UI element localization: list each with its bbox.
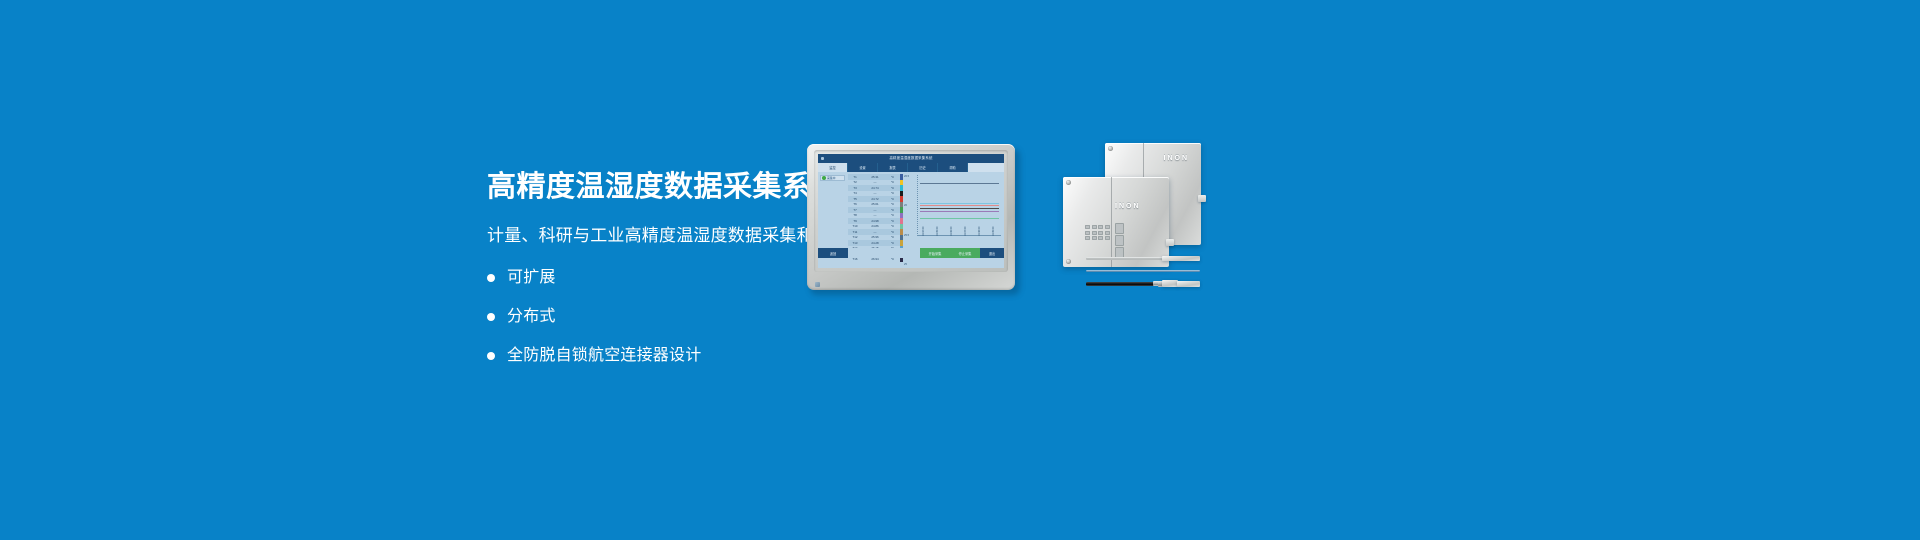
module-side-tab bbox=[1166, 239, 1174, 246]
chart-series-line bbox=[920, 208, 1000, 209]
bullet-dot-icon bbox=[487, 274, 495, 282]
probe-connector-shell bbox=[1177, 281, 1200, 287]
cell-value: --- bbox=[862, 208, 888, 212]
cell-value: --- bbox=[862, 191, 888, 195]
table-row[interactable]: T625.61°C bbox=[848, 202, 900, 208]
probe-shaft bbox=[1086, 257, 1164, 260]
probe-handle bbox=[1162, 256, 1200, 261]
cell-unit: °C bbox=[888, 213, 897, 217]
module-port bbox=[1092, 236, 1097, 240]
panel-pc-bezel: 高精度温湿度数据采集系统 监控 设置 报表 历史 帮助 采集中 bbox=[807, 144, 1015, 290]
module-screw-icon bbox=[1066, 180, 1071, 185]
y-axis-tick-label: 25 bbox=[904, 263, 907, 266]
cell-value: 24.86 bbox=[862, 224, 888, 228]
x-axis-tick-label: 16:08:00 bbox=[978, 227, 981, 236]
module-port bbox=[1085, 236, 1090, 240]
cell-id: T8 bbox=[848, 213, 862, 217]
module-port bbox=[1098, 236, 1103, 240]
module-screw-icon bbox=[1108, 146, 1113, 151]
chart-series-line bbox=[920, 183, 1000, 184]
y-axis-tick-label: 25.5 bbox=[904, 234, 909, 237]
back-button[interactable]: 返回 bbox=[818, 248, 848, 258]
chart-series-line bbox=[920, 205, 1000, 206]
cell-value: 25.96 bbox=[862, 235, 888, 239]
table-row[interactable]: T125.31°C bbox=[848, 174, 900, 180]
toolbar-spacer bbox=[848, 248, 920, 258]
x-axis-tick-label: 16:06:00 bbox=[950, 227, 953, 236]
cell-id: T3 bbox=[848, 186, 862, 190]
table-row[interactable]: T324.74°C bbox=[848, 185, 900, 191]
feature-item-distributed: 分布式 bbox=[487, 307, 967, 327]
module-brand-label: INON bbox=[1164, 155, 1190, 162]
x-axis-tick-label: 16:07:00 bbox=[964, 227, 967, 236]
app-bottom-toolbar: 返回 开始采集 停止采集 退出 bbox=[818, 248, 1004, 258]
tab-history[interactable]: 历史 bbox=[908, 163, 938, 172]
table-row[interactable]: T11---°C bbox=[848, 229, 900, 235]
chart-y-axis: 26.52625.525 bbox=[904, 174, 916, 246]
cell-id: T9 bbox=[848, 219, 862, 223]
probe-connector-body bbox=[1162, 280, 1178, 287]
cell-id: T13 bbox=[848, 241, 862, 245]
cell-value: 24.98 bbox=[862, 219, 888, 223]
cell-unit: °C bbox=[888, 235, 897, 239]
cell-id: T11 bbox=[848, 230, 862, 234]
table-row[interactable]: T1324.28°C bbox=[848, 240, 900, 246]
cell-unit: °C bbox=[888, 208, 897, 212]
feature-label: 分布式 bbox=[507, 309, 556, 325]
module-connector-block bbox=[1115, 235, 1124, 246]
cell-unit: °C bbox=[888, 219, 897, 223]
feature-item-connector: 全防脱自锁航空连接器设计 bbox=[487, 346, 967, 366]
cell-id: T1 bbox=[848, 175, 862, 179]
chart-x-axis: 16:04:0016:05:0016:06:0016:07:0016:08:00… bbox=[917, 236, 1001, 246]
cell-value: --- bbox=[862, 230, 888, 234]
table-row[interactable]: T4---°C bbox=[848, 191, 900, 197]
exit-button[interactable]: 退出 bbox=[980, 248, 1004, 258]
acquisition-status-button[interactable]: 采集中 bbox=[820, 175, 845, 181]
module-seam-line bbox=[1111, 177, 1112, 267]
table-row[interactable]: T1225.96°C bbox=[848, 235, 900, 241]
chart-series-line bbox=[920, 211, 1000, 212]
y-axis-tick-label: 26 bbox=[904, 204, 907, 207]
cell-unit: °C bbox=[888, 197, 897, 201]
cell-unit: °C bbox=[888, 224, 897, 228]
status-led-icon bbox=[822, 176, 826, 180]
module-screw-icon bbox=[1066, 259, 1071, 264]
x-axis-tick-label: 16:05:00 bbox=[936, 227, 939, 236]
cell-value: 24.72 bbox=[862, 197, 888, 201]
app-window-title: 高精度温湿度数据采集系统 bbox=[818, 154, 1004, 163]
cell-unit: °C bbox=[888, 191, 897, 195]
module-connector-block bbox=[1115, 223, 1124, 234]
cell-value: 25.31 bbox=[862, 175, 888, 179]
chart-series-line bbox=[920, 218, 1000, 219]
x-axis-tick-label: 16:04:00 bbox=[922, 227, 925, 236]
cell-value: 24.74 bbox=[862, 186, 888, 190]
module-port bbox=[1105, 231, 1110, 235]
trend-chart: 26.52625.525 16:04:0016:05:0016:06:0016:… bbox=[904, 174, 1002, 246]
cell-value: 24.28 bbox=[862, 241, 888, 245]
tabbar-filler bbox=[968, 163, 1004, 172]
cell-id: T6 bbox=[848, 202, 862, 206]
cell-id: T12 bbox=[848, 235, 862, 239]
table-row[interactable]: T524.72°C bbox=[848, 196, 900, 202]
app-body: 采集中 T125.31°CT2---°CT324.74°CT4---°CT524… bbox=[818, 172, 1004, 258]
cell-unit: °C bbox=[888, 202, 897, 206]
app-titlebar: 高精度温湿度数据采集系统 bbox=[818, 154, 1004, 163]
x-axis-tick-label: 16:09:00 bbox=[992, 227, 995, 236]
cell-unit: °C bbox=[888, 241, 897, 245]
cell-unit: °C bbox=[888, 175, 897, 179]
start-acquisition-button[interactable]: 开始采集 bbox=[920, 248, 950, 258]
module-port bbox=[1092, 225, 1097, 229]
banner-inner: 高精度温湿度数据采集系统 计量、科研与工业高精度温湿度数据采集和分析整体解决方案… bbox=[0, 0, 1920, 540]
module-port bbox=[1092, 231, 1097, 235]
feature-label: 全防脱自锁航空连接器设计 bbox=[507, 348, 701, 364]
table-row[interactable]: T924.98°C bbox=[848, 218, 900, 224]
cell-id: T5 bbox=[848, 197, 862, 201]
chart-series-line bbox=[920, 203, 1000, 204]
bullet-dot-icon bbox=[487, 313, 495, 321]
module-port bbox=[1098, 225, 1103, 229]
module-port bbox=[1085, 231, 1090, 235]
cell-value: 25.61 bbox=[862, 202, 888, 206]
table-row[interactable]: T2---°C bbox=[848, 180, 900, 186]
cell-unit: °C bbox=[888, 186, 897, 190]
panel-pc-stand-foot bbox=[815, 282, 820, 287]
product-banner: 高精度温湿度数据采集系统 计量、科研与工业高精度温湿度数据采集和分析整体解决方案… bbox=[0, 0, 1920, 540]
table-row[interactable]: T1024.86°C bbox=[848, 224, 900, 230]
module-port bbox=[1098, 231, 1103, 235]
cell-value: --- bbox=[862, 180, 888, 184]
module-port bbox=[1105, 225, 1110, 229]
module-brand-label: INON bbox=[1115, 203, 1141, 210]
acquisition-status-label: 采集中 bbox=[827, 176, 835, 180]
cell-id: T7 bbox=[848, 208, 862, 212]
stop-acquisition-button[interactable]: 停止采集 bbox=[950, 248, 980, 258]
feature-label: 可扩展 bbox=[507, 270, 556, 286]
panel-pc-product-image: 高精度温湿度数据采集系统 监控 设置 报表 历史 帮助 采集中 bbox=[807, 144, 1020, 295]
cell-id: T10 bbox=[848, 224, 862, 228]
table-row[interactable]: T7---°C bbox=[848, 207, 900, 213]
tab-report[interactable]: 报表 bbox=[878, 163, 908, 172]
device-screen: 高精度温湿度数据采集系统 监控 设置 报表 历史 帮助 采集中 bbox=[818, 154, 1004, 268]
cell-id: T2 bbox=[848, 180, 862, 184]
tab-settings[interactable]: 设置 bbox=[848, 163, 878, 172]
bullet-dot-icon bbox=[487, 352, 495, 360]
module-port bbox=[1105, 236, 1110, 240]
tab-monitor[interactable]: 监控 bbox=[818, 163, 848, 172]
cell-unit: °C bbox=[888, 180, 897, 184]
module-port-grid bbox=[1085, 225, 1110, 240]
y-axis-tick-label: 26.5 bbox=[904, 175, 909, 178]
app-tabbar: 监控 设置 报表 历史 帮助 bbox=[818, 163, 1004, 172]
cell-unit: °C bbox=[888, 230, 897, 234]
table-row[interactable]: T8---°C bbox=[848, 213, 900, 219]
probe-cable bbox=[1086, 270, 1200, 272]
tab-help[interactable]: 帮助 bbox=[938, 163, 968, 172]
chart-plot-area bbox=[917, 175, 1001, 236]
cell-value: --- bbox=[862, 213, 888, 217]
module-port bbox=[1085, 225, 1090, 229]
cell-id: T4 bbox=[848, 191, 862, 195]
sensor-probes-product-image bbox=[1086, 256, 1200, 294]
module-side-tab bbox=[1198, 195, 1206, 202]
probe-cable bbox=[1086, 282, 1156, 286]
acquisition-module-front: INON bbox=[1063, 177, 1169, 267]
